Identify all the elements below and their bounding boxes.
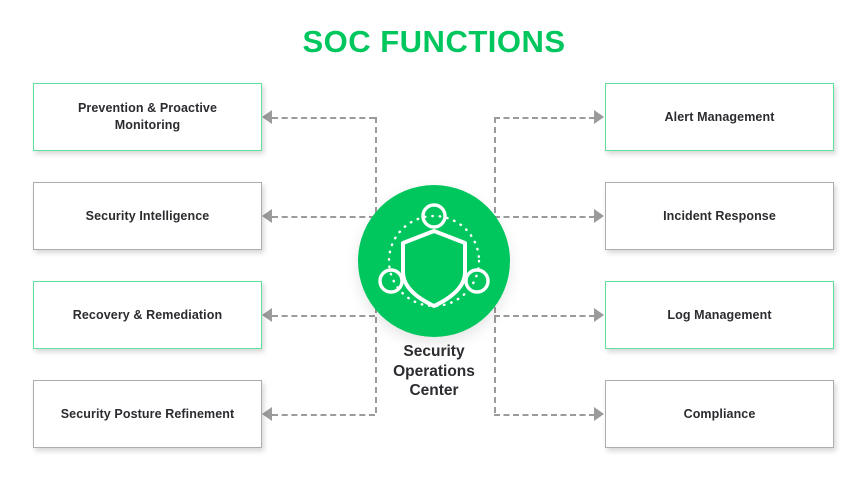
function-box-recovery-remediation[interactable]: Recovery & Remediation <box>33 281 262 349</box>
arrowhead-right-row1 <box>594 110 604 124</box>
function-box-label: Security Posture Refinement <box>51 406 245 423</box>
function-box-label: Log Management <box>657 307 781 324</box>
connector-left-row1 <box>272 117 375 119</box>
function-box-compliance[interactable]: Compliance <box>605 380 834 448</box>
soc-hub-label-line-1: Security <box>360 342 508 362</box>
arrowhead-left-row1 <box>262 110 272 124</box>
function-box-label: Alert Management <box>655 109 785 126</box>
soc-hub-label-line-2: Operations <box>360 362 508 382</box>
function-box-alert-management[interactable]: Alert Management <box>605 83 834 151</box>
arrowhead-left-row3 <box>262 308 272 322</box>
arrowhead-right-row3 <box>594 308 604 322</box>
function-box-log-management[interactable]: Log Management <box>605 281 834 349</box>
function-box-label: Incident Response <box>653 208 786 225</box>
connector-right-row1 <box>494 117 595 119</box>
function-box-label: Compliance <box>674 406 766 423</box>
function-box-prevention-monitoring[interactable]: Prevention & Proactive Monitoring <box>33 83 262 151</box>
connector-right-row4 <box>494 414 595 416</box>
connector-left-row4 <box>272 414 375 416</box>
function-box-security-intelligence[interactable]: Security Intelligence <box>33 182 262 250</box>
arrowhead-right-row2 <box>594 209 604 223</box>
page-title: SOC FUNCTIONS <box>0 24 868 60</box>
soc-hub-circle[interactable] <box>358 185 510 337</box>
soc-functions-diagram: SOC FUNCTIONS Prevention & Proactive Mon… <box>0 0 868 488</box>
function-box-incident-response[interactable]: Incident Response <box>605 182 834 250</box>
arrowhead-left-row4 <box>262 407 272 421</box>
arrowhead-left-row2 <box>262 209 272 223</box>
soc-hub-label-line-3: Center <box>360 381 508 401</box>
function-box-label: Recovery & Remediation <box>63 307 232 324</box>
function-box-label: Prevention & Proactive Monitoring <box>34 100 261 134</box>
shield-network-icon <box>358 185 510 337</box>
function-box-label: Security Intelligence <box>76 208 220 225</box>
function-box-security-posture-refinement[interactable]: Security Posture Refinement <box>33 380 262 448</box>
arrowhead-right-row4 <box>594 407 604 421</box>
soc-hub-label: Security Operations Center <box>360 342 508 401</box>
